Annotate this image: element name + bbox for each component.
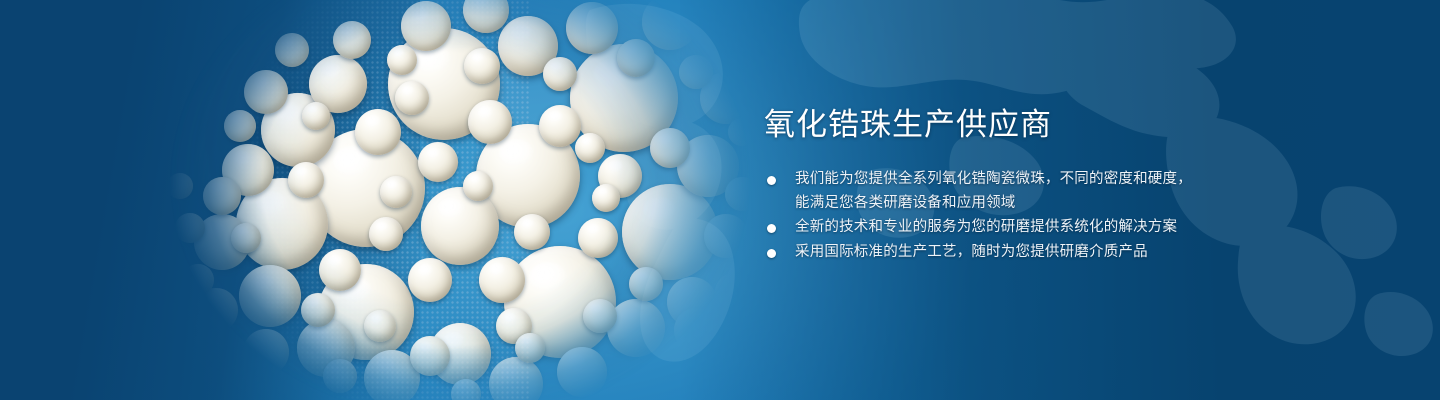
ceramic-bead	[186, 316, 214, 344]
ceramic-bead	[369, 217, 403, 251]
ceramic-bead	[224, 110, 256, 142]
ceramic-bead	[323, 359, 357, 393]
ceramic-bead	[262, 374, 294, 400]
dot-bullet-icon	[767, 224, 776, 233]
ceramic-bead	[302, 102, 330, 130]
ceramic-bead	[288, 162, 324, 198]
ceramic-bead	[167, 173, 193, 199]
feature-bullet-item: 我们能为您提供全系列氧化锆陶瓷微珠，不同的密度和硬度，能满足您各类研磨设备和应用…	[764, 168, 1284, 215]
ceramic-bead	[704, 214, 748, 258]
ceramic-bead	[642, 0, 698, 50]
feature-bullet-list: 我们能为您提供全系列氧化锆陶瓷微珠，不同的密度和硬度，能满足您各类研磨设备和应用…	[764, 168, 1284, 264]
ceramic-bead	[275, 33, 309, 67]
ceramic-bead	[617, 39, 655, 77]
ceramic-bead	[333, 21, 371, 59]
feature-bullet-item: 全新的技术和专业的服务为您的研磨提供系统化的解决方案	[764, 216, 1284, 240]
ceramic-bead	[401, 1, 451, 51]
ceramic-bead	[632, 372, 664, 400]
ceramic-bead	[566, 2, 618, 54]
ceramic-bead	[680, 374, 708, 400]
feature-bullet-text: 全新的技术和专业的服务为您的研磨提供系统化的解决方案	[795, 216, 1284, 240]
ceramic-bead	[421, 187, 499, 265]
ceramic-bead	[418, 142, 458, 182]
hero-banner: 氧化锆珠生产供应商 我们能为您提供全系列氧化锆陶瓷微珠，不同的密度和硬度，能满足…	[0, 0, 1440, 400]
ceramic-bead	[387, 45, 417, 75]
dot-bullet-icon	[767, 176, 776, 185]
ceramic-bead	[715, 273, 753, 311]
ceramic-bead	[243, 329, 289, 375]
feature-bullet-item: 采用国际标准的生产工艺，随时为您提供研磨介质产品	[764, 241, 1284, 265]
page-title: 氧化锆珠生产供应商	[764, 104, 1284, 146]
ceramic-bead	[214, 364, 242, 392]
ceramic-bead	[629, 267, 663, 301]
ceramic-bead	[301, 293, 335, 327]
ceramic-bead	[463, 0, 509, 33]
zirconia-ceramic-beads-photo	[130, 0, 750, 400]
ceramic-bead	[244, 70, 288, 114]
ceramic-bead	[515, 333, 545, 363]
dot-bullet-icon	[767, 249, 776, 258]
ceramic-bead	[583, 299, 617, 333]
ceramic-bead	[543, 57, 577, 91]
ceramic-bead	[395, 81, 429, 115]
ceramic-bead	[355, 109, 401, 155]
ceramic-bead	[539, 105, 581, 147]
ceramic-bead	[380, 176, 412, 208]
ceramic-bead	[468, 100, 512, 144]
ceramic-bead	[463, 171, 493, 201]
ceramic-bead	[479, 257, 525, 303]
ceramic-bead	[364, 310, 396, 342]
ceramic-bead	[182, 264, 214, 296]
ceramic-bead	[514, 214, 550, 250]
ceramic-bead	[175, 213, 205, 243]
ceramic-bead	[557, 347, 607, 397]
ceramic-bead	[319, 249, 361, 291]
ceramic-bead	[607, 299, 665, 357]
ceramic-bead	[203, 177, 241, 215]
ceramic-bead	[489, 357, 543, 400]
ceramic-bead	[674, 308, 718, 352]
ceramic-bead	[650, 128, 690, 168]
banner-text-block: 氧化锆珠生产供应商 我们能为您提供全系列氧化锆陶瓷微珠，不同的密度和硬度，能满足…	[764, 104, 1284, 265]
ceramic-bead	[408, 258, 452, 302]
ceramic-bead	[679, 55, 713, 89]
ceramic-bead	[451, 379, 481, 400]
ceramic-bead	[410, 336, 450, 376]
ceramic-bead	[464, 48, 500, 84]
ceramic-bead	[231, 223, 261, 253]
ceramic-bead	[578, 218, 618, 258]
ceramic-bead	[575, 133, 605, 163]
feature-bullet-text: 能满足您各类研磨设备和应用领域	[795, 192, 1284, 216]
feature-bullet-text: 采用国际标准的生产工艺，随时为您提供研磨介质产品	[795, 241, 1284, 265]
ceramic-bead	[592, 184, 620, 212]
feature-bullet-text: 我们能为您提供全系列氧化锆陶瓷微珠，不同的密度和硬度，	[795, 168, 1284, 192]
ceramic-bead	[239, 265, 301, 327]
